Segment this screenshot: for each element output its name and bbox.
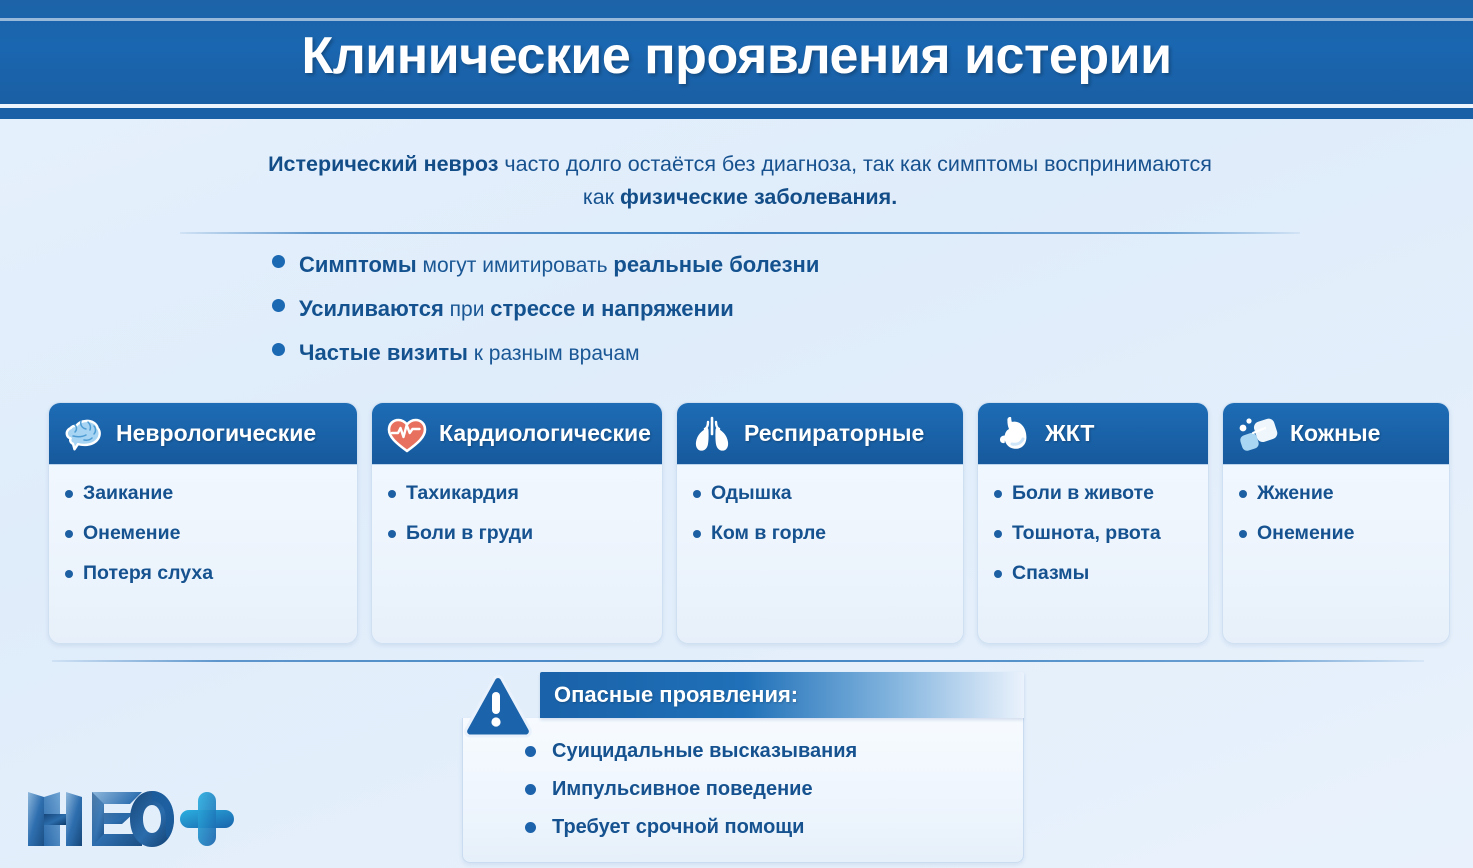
bullet-bold-tail: реальные болезни bbox=[613, 252, 819, 277]
danger-callout-body: Суицидальные высказывания Импульсивное п… bbox=[462, 718, 1024, 863]
card-cardiological[interactable]: Кардиологические Тахикардия Боли в груди bbox=[371, 402, 663, 644]
list-item: Боли в груди bbox=[388, 521, 650, 545]
intro-middle: часто долго остаётся без диагноза, так к… bbox=[498, 152, 1211, 176]
header-band-secondary bbox=[0, 108, 1473, 119]
card-title: Неврологические bbox=[116, 420, 316, 447]
list-item: Жжение bbox=[1239, 481, 1437, 505]
danger-item-label: Импульсивное поведение bbox=[552, 778, 813, 801]
warning-triangle-icon bbox=[462, 670, 544, 744]
card-header: Неврологические bbox=[49, 403, 357, 465]
card-item-label: Тахикардия bbox=[406, 481, 519, 505]
bullet-dot-icon bbox=[693, 490, 701, 498]
card-body: Тахикардия Боли в груди bbox=[372, 465, 662, 571]
card-title: Респираторные bbox=[744, 420, 924, 447]
lungs-icon bbox=[689, 412, 735, 456]
card-item-label: Тошнота, рвота bbox=[1012, 521, 1161, 545]
bullet-dot-icon bbox=[1239, 490, 1247, 498]
bullet-dot-icon bbox=[272, 255, 285, 268]
card-dermatological[interactable]: Кожные Жжение Онемение bbox=[1222, 402, 1450, 644]
bullet-bold-tail: стрессе и напряжении bbox=[490, 296, 734, 321]
summary-bullet-list: Симптомы могут имитировать реальные боле… bbox=[272, 252, 1172, 384]
brand-logo bbox=[22, 788, 262, 850]
bullet-dot-icon bbox=[65, 490, 73, 498]
page-header: Клинические проявления истерии bbox=[0, 0, 1473, 119]
bullet-dot-icon bbox=[994, 530, 1002, 538]
card-item-label: Ком в горле bbox=[711, 521, 826, 545]
list-item: Симптомы могут имитировать реальные боле… bbox=[272, 252, 1172, 296]
danger-callout: Опасные проявления: Суицидальные высказы… bbox=[462, 672, 1024, 863]
list-item: Усиливаются при стрессе и напряжении bbox=[272, 296, 1172, 340]
divider-under-intro bbox=[180, 232, 1300, 234]
card-header: Кардиологические bbox=[372, 403, 662, 465]
header-rule-top bbox=[0, 18, 1473, 21]
bullet-dot-icon bbox=[525, 784, 536, 795]
list-item: Ком в горле bbox=[693, 521, 951, 545]
bullet-dot-icon bbox=[272, 299, 285, 312]
list-item: Потеря слуха bbox=[65, 561, 345, 585]
card-title: Кардиологические bbox=[439, 420, 651, 447]
list-item: Суицидальные высказывания bbox=[525, 732, 1023, 770]
card-item-label: Одышка bbox=[711, 481, 792, 505]
card-item-label: Боли в груди bbox=[406, 521, 533, 545]
list-item: Онемение bbox=[1239, 521, 1437, 545]
intro-tail-bold: физические заболевания. bbox=[620, 185, 897, 209]
stomach-icon bbox=[990, 412, 1036, 456]
bullet-dot-icon bbox=[525, 822, 536, 833]
danger-item-label: Требует срочной помощи bbox=[552, 816, 804, 839]
bullet-dot-icon bbox=[65, 570, 73, 578]
list-item: Боли в животе bbox=[994, 481, 1196, 505]
bullet-plain: к разным врачам bbox=[468, 342, 640, 365]
bullet-plain: могут имитировать bbox=[417, 254, 614, 277]
divider-above-warning bbox=[52, 660, 1424, 662]
card-body: Боли в животе Тошнота, рвота Спазмы bbox=[978, 465, 1208, 611]
card-title: Кожные bbox=[1290, 420, 1380, 447]
card-body: Заикание Онемение Потеря слуха bbox=[49, 465, 357, 611]
card-gastrointestinal[interactable]: ЖКТ Боли в животе Тошнота, рвота Спазмы bbox=[977, 402, 1209, 644]
bullet-bold-lead: Симптомы bbox=[299, 252, 417, 277]
list-item: Частые визиты к разным врачам bbox=[272, 340, 1172, 384]
danger-callout-title: Опасные проявления: bbox=[554, 682, 798, 708]
bullet-dot-icon bbox=[388, 490, 396, 498]
symptom-category-cards: Неврологические Заикание Онемение Потеря… bbox=[48, 402, 1450, 644]
card-item-label: Потеря слуха bbox=[83, 561, 213, 585]
bullet-dot-icon bbox=[994, 570, 1002, 578]
list-item: Импульсивное поведение bbox=[525, 770, 1023, 808]
page-title: Клинические проявления истерии bbox=[0, 26, 1473, 86]
list-item: Тахикардия bbox=[388, 481, 650, 505]
bullet-dot-icon bbox=[994, 490, 1002, 498]
intro-paragraph: Истерический невроз часто долго остаётся… bbox=[180, 148, 1300, 214]
intro-lead: Истерический невроз bbox=[268, 152, 498, 176]
card-item-label: Онемение bbox=[83, 521, 180, 545]
skin-patch-icon bbox=[1235, 412, 1281, 456]
card-item-label: Жжение bbox=[1257, 481, 1334, 505]
bullet-dot-icon bbox=[388, 530, 396, 538]
list-item: Заикание bbox=[65, 481, 345, 505]
neo-plus-logo-icon bbox=[22, 788, 262, 850]
card-header: Респираторные bbox=[677, 403, 963, 465]
card-item-label: Онемение bbox=[1257, 521, 1354, 545]
bullet-dot-icon bbox=[65, 530, 73, 538]
list-item: Требует срочной помощи bbox=[525, 808, 1023, 846]
card-respiratory[interactable]: Респираторные Одышка Ком в горле bbox=[676, 402, 964, 644]
bullet-bold-lead: Усиливаются bbox=[299, 296, 444, 321]
card-body: Одышка Ком в горле bbox=[677, 465, 963, 571]
bullet-dot-icon bbox=[272, 343, 285, 356]
list-item: Онемение bbox=[65, 521, 345, 545]
intro-line2-prefix: как bbox=[583, 185, 620, 209]
heart-pulse-icon bbox=[384, 412, 430, 456]
bullet-dot-icon bbox=[525, 746, 536, 757]
list-item: Одышка bbox=[693, 481, 951, 505]
bullet-dot-icon bbox=[693, 530, 701, 538]
list-item: Спазмы bbox=[994, 561, 1196, 585]
card-header: Кожные bbox=[1223, 403, 1449, 465]
card-header: ЖКТ bbox=[978, 403, 1208, 465]
bullet-plain: при bbox=[444, 298, 490, 321]
danger-callout-header: Опасные проявления: bbox=[540, 672, 1024, 718]
card-item-label: Боли в животе bbox=[1012, 481, 1154, 505]
bullet-dot-icon bbox=[1239, 530, 1247, 538]
bullet-bold-lead: Частые визиты bbox=[299, 340, 468, 365]
card-neurological[interactable]: Неврологические Заикание Онемение Потеря… bbox=[48, 402, 358, 644]
card-item-label: Заикание bbox=[83, 481, 173, 505]
danger-item-label: Суицидальные высказывания bbox=[552, 740, 857, 763]
brain-icon bbox=[61, 412, 107, 456]
card-title: ЖКТ bbox=[1045, 420, 1094, 447]
list-item: Тошнота, рвота bbox=[994, 521, 1196, 545]
card-item-label: Спазмы bbox=[1012, 561, 1089, 585]
card-body: Жжение Онемение bbox=[1223, 465, 1449, 571]
